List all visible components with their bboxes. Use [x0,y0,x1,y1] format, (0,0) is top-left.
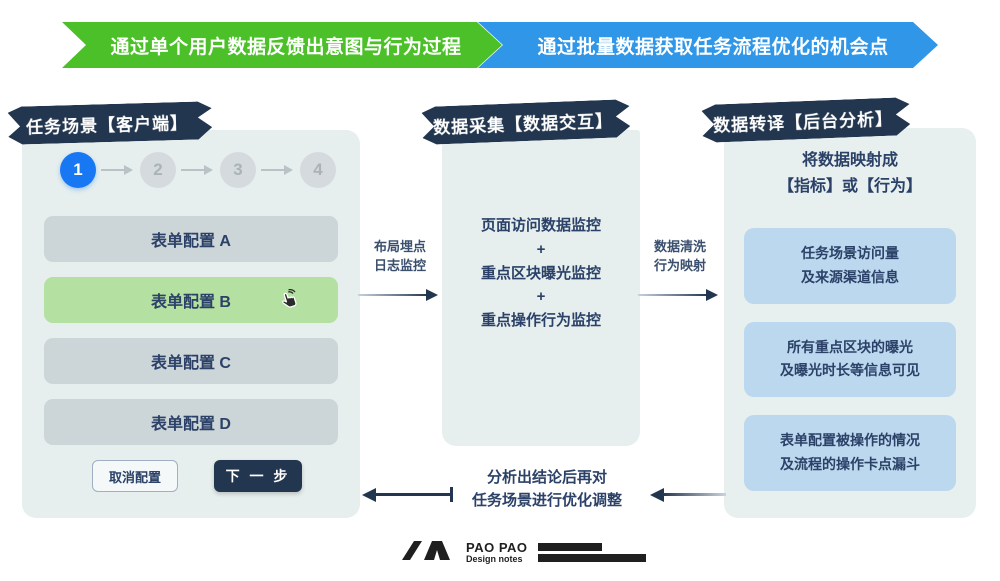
form-config-item-b[interactable]: 表单配置 B [44,277,338,323]
form-config-item-a[interactable]: 表单配置 A [44,216,338,262]
form-config-item-c[interactable]: 表单配置 C [44,338,338,384]
insight-card-traffic-line1: 任务场景访问量 [752,242,948,266]
arrow-right-icon-1 [356,290,444,300]
banner-right-label: 通过批量数据获取任务流程优化的机会点 [537,32,888,59]
step-2[interactable]: 2 [140,152,176,188]
monitoring-item-1: 页面访问数据监控 [442,218,640,234]
top-banner: 通过单个用户数据反馈出意图与行为过程 通过批量数据获取任务流程优化的机会点 [62,22,938,68]
section-header-task-scenario: 任务场景【客户端】 [8,101,213,145]
insight-card-traffic: 任务场景访问量 及来源渠道信息 [744,228,956,304]
form-config-list: 表单配置 A 表单配置 B 表单配置 C 表单配置 D [44,216,338,460]
data-translation-heading: 将数据映射成 【指标】或【行为】 [724,148,976,199]
step-arrow-2-icon [181,165,215,175]
next-step-button-label: 下 一 步 [226,466,291,486]
pointing-hand-click-icon [276,287,302,313]
cancel-config-button-label: 取消配置 [109,467,161,486]
form-config-item-c-label: 表单配置 C [151,349,231,373]
banner-left-chevron: 通过单个用户数据反馈出意图与行为过程 [62,22,502,68]
banner-left-label: 通过单个用户数据反馈出意图与行为过程 [110,32,461,59]
step-1[interactable]: 1 [60,152,96,188]
connector-collection-line2: 日志监控 [356,257,444,276]
arrow-left-icon-loop-2 [650,488,726,502]
paopao-logo-icon [400,538,458,567]
section-header-data-collection-label: 数据采集【数据交互】 [433,106,614,138]
insight-card-funnel-line2: 及流程的操作卡点漏斗 [752,453,948,477]
footer-brand-text: PAO PAO Design notes [466,541,528,564]
arrow-right-icon-2 [636,290,724,300]
insight-card-exposure: 所有重点区块的曝光 及曝光时长等信息可见 [744,322,956,398]
section-header-data-translation: 数据转译【后台分析】 [701,97,910,143]
insight-card-funnel-line1: 表单配置被操作的情况 [752,429,948,453]
connector-collection-line1: 布局埋点 [356,238,444,257]
insight-card-funnel: 表单配置被操作的情况 及流程的操作卡点漏斗 [744,415,956,491]
monitoring-item-2: 重点区块曝光监控 [442,266,640,282]
insight-card-exposure-line2: 及曝光时长等信息可见 [752,359,948,383]
next-step-button[interactable]: 下 一 步 [214,460,302,492]
step-4[interactable]: 4 [300,152,336,188]
feedback-loop-line1: 分析出结论后再对 [436,466,658,489]
step-2-label: 2 [153,160,162,180]
step-arrow-1-icon [101,165,135,175]
form-config-item-d-label: 表单配置 D [151,410,231,434]
connector-collection: 布局埋点 日志监控 [356,238,444,300]
banner-right-chevron: 通过批量数据获取任务流程优化的机会点 [478,22,938,68]
step-3-label: 3 [233,160,242,180]
data-translation-heading-line1: 将数据映射成 [724,148,976,174]
form-config-item-d[interactable]: 表单配置 D [44,399,338,445]
connector-translation: 数据清洗 行为映射 [636,238,724,300]
section-header-task-scenario-label: 任务场景【客户端】 [26,108,189,138]
cancel-config-button[interactable]: 取消配置 [92,460,178,492]
footer-logo: PAO PAO Design notes [400,538,646,567]
insight-card-exposure-line1: 所有重点区块的曝光 [752,336,948,360]
connector-translation-line2: 行为映射 [636,257,724,276]
connector-translation-line1: 数据清洗 [636,238,724,257]
footer-brand-subtitle: Design notes [466,555,528,564]
section-header-data-translation-label: 数据转译【后台分析】 [713,104,894,136]
section-header-data-collection: 数据采集【数据交互】 [421,99,630,145]
feedback-loop-label: 分析出结论后再对 任务场景进行优化调整 [436,466,658,513]
insight-card-list: 任务场景访问量 及来源渠道信息 所有重点区块的曝光 及曝光时长等信息可见 表单配… [744,228,956,509]
data-collection-content: 页面访问数据监控 + 重点区块曝光监控 + 重点操作行为监控 [442,218,640,337]
insight-card-traffic-line2: 及来源渠道信息 [752,266,948,290]
step-3[interactable]: 3 [220,152,256,188]
step-indicator: 1 2 3 4 [60,152,336,188]
action-button-row: 取消配置 下 一 步 [92,460,302,492]
form-config-item-b-label: 表单配置 B [151,288,231,312]
form-config-item-a-label: 表单配置 A [151,227,231,251]
footer-bars-decoration [538,543,646,562]
plus-separator-2: + [442,289,640,305]
footer-brand-title: PAO PAO [466,541,528,555]
plus-separator-1: + [442,242,640,258]
monitoring-item-3: 重点操作行为监控 [442,313,640,329]
step-arrow-3-icon [261,165,295,175]
step-4-label: 4 [313,160,322,180]
feedback-loop-line2: 任务场景进行优化调整 [436,489,658,512]
step-1-label: 1 [73,160,82,180]
data-translation-heading-line2: 【指标】或【行为】 [724,174,976,200]
